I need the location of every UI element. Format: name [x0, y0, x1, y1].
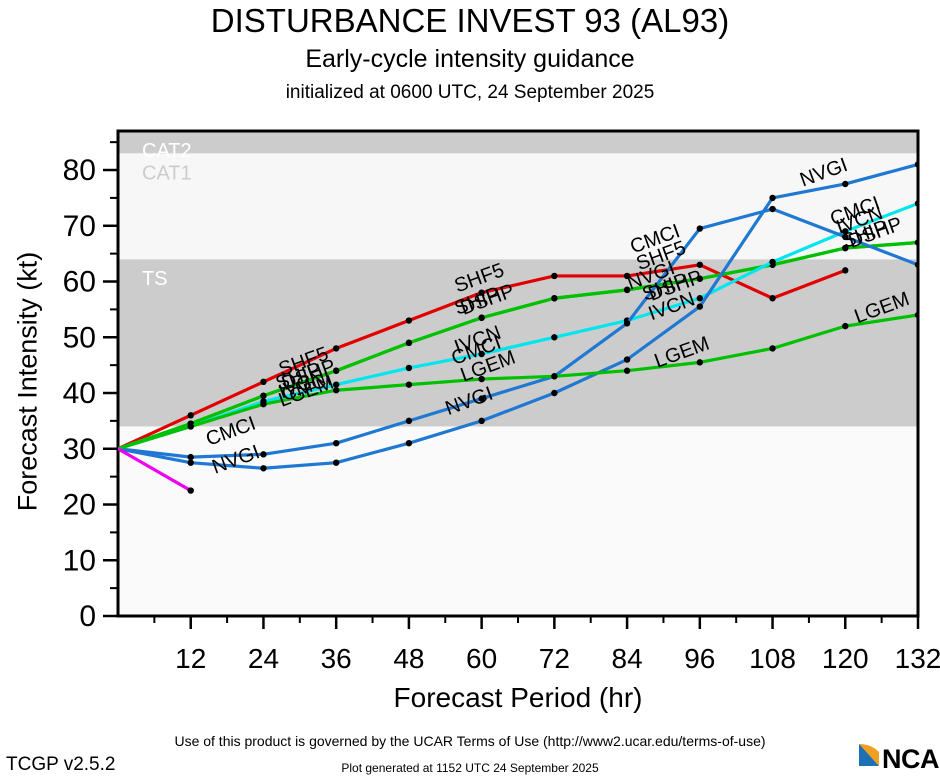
- series-point-shf5: [769, 295, 775, 301]
- ncar-logo: NCAR: [857, 740, 940, 778]
- x-tick-label: 36: [321, 643, 352, 674]
- x-tick-label: 96: [684, 643, 715, 674]
- y-tick-label: 0: [79, 600, 96, 633]
- intensity-guidance-plot: TSCAT1CAT2122436486072849610812013201020…: [0, 0, 940, 700]
- series-point-ship: [260, 393, 266, 399]
- y-tick-label: 30: [63, 433, 96, 466]
- y-tick-label: 20: [63, 489, 96, 522]
- series-point-cmci: [406, 418, 412, 424]
- x-tick-label: 60: [466, 643, 497, 674]
- series-point-cmci: [624, 320, 630, 326]
- series-point-decay-track: [188, 487, 194, 493]
- x-tick-label: 48: [393, 643, 424, 674]
- series-point-cmci: [260, 451, 266, 457]
- series-point-nvgi: [333, 459, 339, 465]
- y-tick-label: 50: [63, 321, 96, 354]
- x-tick-label: 72: [539, 643, 570, 674]
- series-point-shf5: [406, 317, 412, 323]
- series-point-lgem: [406, 381, 412, 387]
- plot-generated-text: Plot generated at 1152 UTC 24 September …: [0, 761, 940, 775]
- series-point-cmci: [333, 440, 339, 446]
- terms-of-use-text: Use of this product is governed by the U…: [0, 733, 940, 749]
- series-point-lgem: [624, 368, 630, 374]
- series-point-cmci: [769, 206, 775, 212]
- series-point-ivcn: [769, 259, 775, 265]
- series-point-lgem: [769, 345, 775, 351]
- series-point-shf5: [842, 267, 848, 273]
- series-point-ivcn: [915, 200, 921, 206]
- series-point-lgem: [915, 312, 921, 318]
- series-point-nvgi: [260, 465, 266, 471]
- band-label-cat2: CAT2: [142, 140, 192, 162]
- series-point-ivcn: [551, 334, 557, 340]
- chart-page: DISTURBANCE INVEST 93 (AL93) Early-cycle…: [0, 0, 940, 780]
- x-tick-label: 108: [749, 643, 796, 674]
- y-tick-label: 80: [63, 154, 96, 187]
- band-label-ts: TS: [142, 268, 168, 290]
- x-tick-label: 84: [612, 643, 643, 674]
- tcgp-version-label: TCGP v2.5.2: [6, 754, 115, 776]
- series-point-nvgi: [915, 161, 921, 167]
- series-point-ship: [478, 315, 484, 321]
- ncar-logo-text: NCAR: [882, 744, 940, 775]
- series-point-ivcn: [406, 365, 412, 371]
- series-point-lgem: [697, 359, 703, 365]
- series-point-shf5: [260, 379, 266, 385]
- series-point-ship: [915, 239, 921, 245]
- series-point-ship: [551, 295, 557, 301]
- band-cat1: [118, 153, 918, 259]
- y-tick-label: 60: [63, 266, 96, 299]
- x-tick-label: 132: [895, 643, 940, 674]
- x-tick-label: 12: [175, 643, 206, 674]
- series-point-nvgi: [478, 418, 484, 424]
- series-point-ship: [406, 340, 412, 346]
- series-point-lgem: [551, 373, 557, 379]
- band-cat2: [118, 131, 918, 153]
- series-point-lgem: [260, 401, 266, 407]
- series-point-lgem: [188, 423, 194, 429]
- series-point-nvgi: [406, 440, 412, 446]
- series-point-nvgi: [842, 181, 848, 187]
- series-point-cmci: [915, 262, 921, 268]
- x-tick-label: 24: [248, 643, 279, 674]
- band-label-cat1: CAT1: [142, 162, 192, 184]
- series-point-cmci: [188, 454, 194, 460]
- y-tick-label: 70: [63, 210, 96, 243]
- series-point-nvgi: [769, 195, 775, 201]
- series-point-lgem: [842, 323, 848, 329]
- series-point-cmci: [697, 225, 703, 231]
- series-point-shf5: [333, 345, 339, 351]
- series-point-nvgi: [551, 390, 557, 396]
- series-point-shf5: [188, 412, 194, 418]
- series-point-nvgi: [188, 459, 194, 465]
- y-tick-label: 40: [63, 377, 96, 410]
- x-tick-label: 120: [822, 643, 869, 674]
- series-point-nvgi: [624, 356, 630, 362]
- y-tick-label: 10: [63, 544, 96, 577]
- series-point-shf5: [551, 273, 557, 279]
